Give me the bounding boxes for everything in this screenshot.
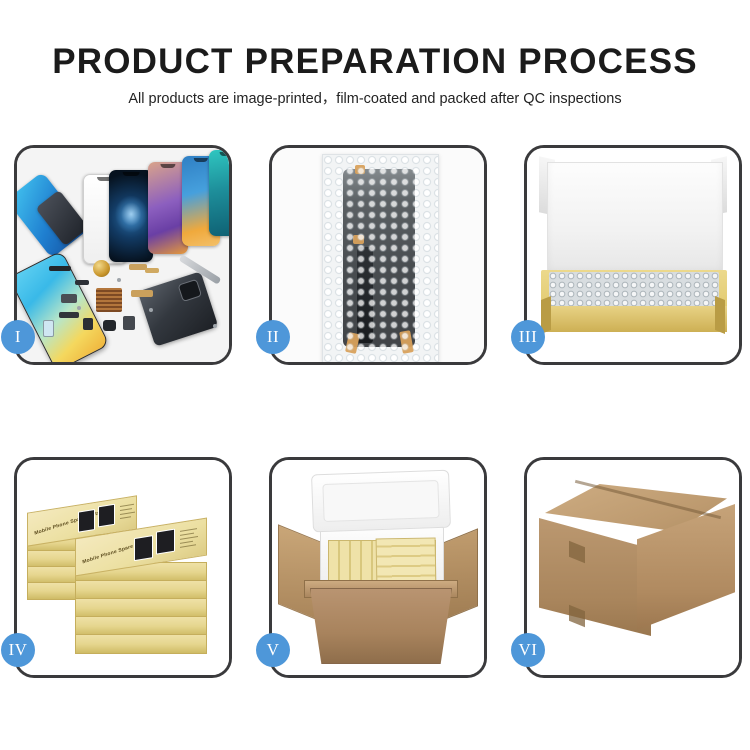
stacked-box-icon bbox=[75, 634, 207, 654]
spare-part-icon bbox=[103, 320, 116, 331]
step-badge-6: VI bbox=[511, 633, 545, 667]
screen-assembly-icon bbox=[343, 169, 415, 347]
process-step-grid: I II bbox=[0, 145, 750, 685]
carton-body-icon bbox=[310, 588, 452, 664]
box-stack-group: Mobile Phone Spare Parts bbox=[17, 460, 229, 675]
phone-dark-wallpaper-icon bbox=[109, 170, 153, 262]
screw-icon bbox=[77, 306, 81, 310]
process-step-3[interactable]: III bbox=[524, 145, 742, 365]
panel-background bbox=[527, 148, 739, 362]
page-subtitle: All products are image-printed，film-coat… bbox=[0, 79, 750, 107]
spare-part-icon bbox=[49, 266, 71, 271]
page-title: PRODUCT PREPARATION PROCESS bbox=[0, 0, 750, 79]
process-step-5[interactable]: V bbox=[269, 457, 487, 678]
stacked-box-icon bbox=[75, 598, 207, 618]
spare-part-icon bbox=[131, 290, 153, 297]
foam-lid-open-icon bbox=[311, 470, 451, 533]
spare-part-icon bbox=[59, 312, 79, 318]
header: PRODUCT PREPARATION PROCESS All products… bbox=[0, 0, 750, 107]
box-corner-right-icon bbox=[715, 296, 725, 334]
flex-cable-icon bbox=[357, 247, 373, 343]
step-2-image bbox=[272, 148, 484, 362]
process-step-1[interactable]: I bbox=[14, 145, 232, 365]
tape-piece-icon bbox=[353, 235, 364, 244]
carton-left-face-icon bbox=[539, 518, 651, 636]
chip-array-icon bbox=[96, 288, 122, 312]
bubble-wrap-contents-icon bbox=[549, 272, 719, 308]
product-preparation-page: PRODUCT PREPARATION PROCESS All products… bbox=[0, 0, 750, 750]
phone-fan-group bbox=[17, 148, 229, 272]
step-6-image bbox=[527, 460, 739, 675]
box-front-face-icon bbox=[541, 306, 727, 332]
step-4-image: Mobile Phone Spare Parts bbox=[17, 460, 229, 675]
spare-part-icon bbox=[83, 318, 93, 330]
spare-part-icon bbox=[61, 294, 77, 303]
process-step-2[interactable]: II bbox=[269, 145, 487, 365]
bubble-wrap-bag-icon bbox=[322, 154, 439, 362]
coil-component-icon bbox=[93, 260, 110, 277]
step-badge-3: III bbox=[511, 320, 545, 354]
shipping-carton-open-icon bbox=[272, 460, 484, 675]
step-badge-1: I bbox=[1, 320, 35, 354]
step-badge-4: IV bbox=[1, 633, 35, 667]
sealed-carton-icon bbox=[527, 460, 739, 675]
spare-part-icon bbox=[43, 320, 54, 337]
step-badge-2: II bbox=[256, 320, 290, 354]
screw-icon bbox=[213, 324, 217, 328]
screw-icon bbox=[117, 278, 121, 282]
step-5-image bbox=[272, 460, 484, 675]
phone-teal-icon bbox=[209, 150, 229, 236]
tape-piece-icon bbox=[355, 165, 365, 174]
step-3-image bbox=[527, 148, 739, 362]
spare-part-icon bbox=[145, 268, 159, 273]
screw-icon bbox=[149, 308, 153, 312]
stacked-box-icon bbox=[75, 580, 207, 600]
process-step-6[interactable]: VI bbox=[524, 457, 742, 678]
foam-lid-icon bbox=[547, 162, 723, 276]
step-badge-5: V bbox=[256, 633, 290, 667]
spare-part-icon bbox=[123, 316, 135, 330]
process-step-4[interactable]: Mobile Phone Spare Parts bbox=[14, 457, 232, 678]
step-1-image bbox=[17, 148, 229, 362]
spare-part-icon bbox=[75, 280, 89, 285]
stacked-box-icon bbox=[75, 616, 207, 636]
